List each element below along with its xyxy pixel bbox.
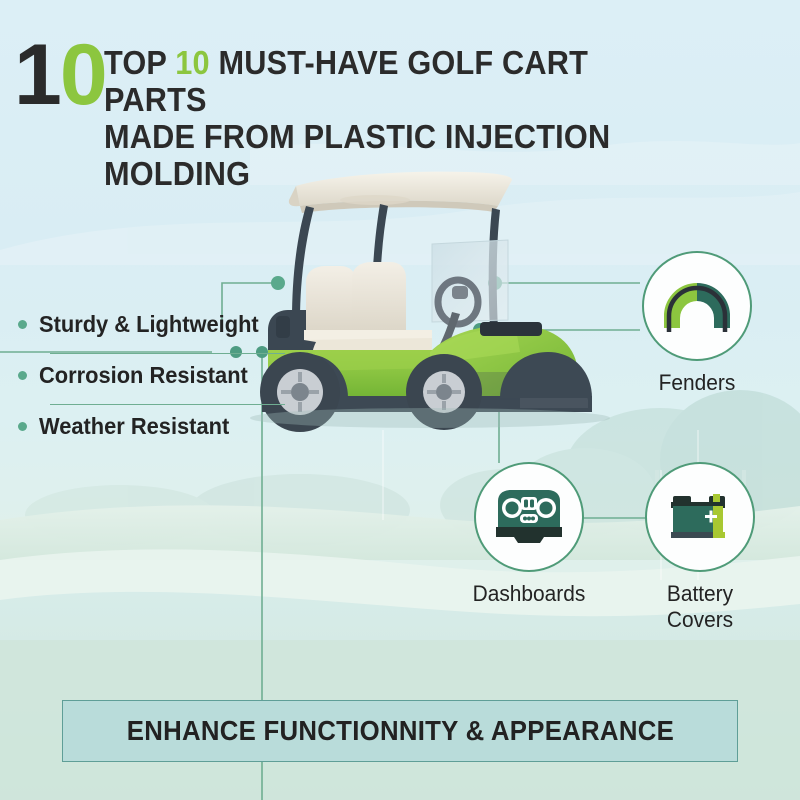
fender-arch-icon [660,280,734,332]
header: 10 TOP 10 MUST-HAVE GOLF CART PARTS MADE… [0,0,800,140]
dashboards-icon-circle [474,462,584,572]
feature-separator [50,353,285,354]
bottom-banner: ENHANCE FUNCTIONNITY & APPEARANCE [62,700,738,762]
battery-covers-label-line2: Covers [667,607,733,632]
infographic-canvas: 10 TOP 10 MUST-HAVE GOLF CART PARTS MADE… [0,0,800,800]
title-line-1: TOP 10 MUST-HAVE GOLF CART PARTS [104,44,699,118]
battery-covers-label-line1: Battery [667,581,733,606]
badge-number-dark: 1 [14,27,60,123]
title-part-a: TOP [104,44,175,81]
title-line-2: MADE FROM PLASTIC INJECTION MOLDING [104,118,699,192]
list-item: Sturdy & Lightweight [18,305,268,356]
bullet-dot-icon [18,320,27,329]
banner-text: ENHANCE FUNCTIONNITY & APPEARANCE [126,715,673,747]
dashboards-label: Dashboards [467,581,591,607]
battery-icon-circle [645,462,755,572]
feature-label: Corrosion Resistant [39,362,248,389]
fenders-label: Fenders [635,370,759,396]
page-title: TOP 10 MUST-HAVE GOLF CART PARTS MADE FR… [104,44,699,192]
feature-label: Sturdy & Lightweight [39,311,259,338]
feature-label: Weather Resistant [39,413,229,440]
callout-fenders[interactable]: Fenders [632,251,762,396]
title-highlight-ten: 10 [175,44,210,81]
callout-dashboards[interactable]: Dashboards [464,462,594,607]
battery-covers-label: Battery Covers [648,581,753,633]
bullet-dot-icon [18,422,27,431]
list-item: Corrosion Resistant [18,356,268,407]
list-item: Weather Resistant [18,407,268,458]
dashboard-panel-icon [492,487,566,547]
badge-number: 10 [14,32,106,118]
fenders-icon-circle [642,251,752,361]
bullet-dot-icon [18,371,27,380]
battery-icon [665,488,735,546]
callout-battery-covers[interactable]: Battery Covers [645,462,755,633]
feature-separator [50,404,285,405]
badge-number-green: 0 [60,27,106,123]
feature-list: Sturdy & Lightweight Corrosion Resistant… [18,305,268,458]
